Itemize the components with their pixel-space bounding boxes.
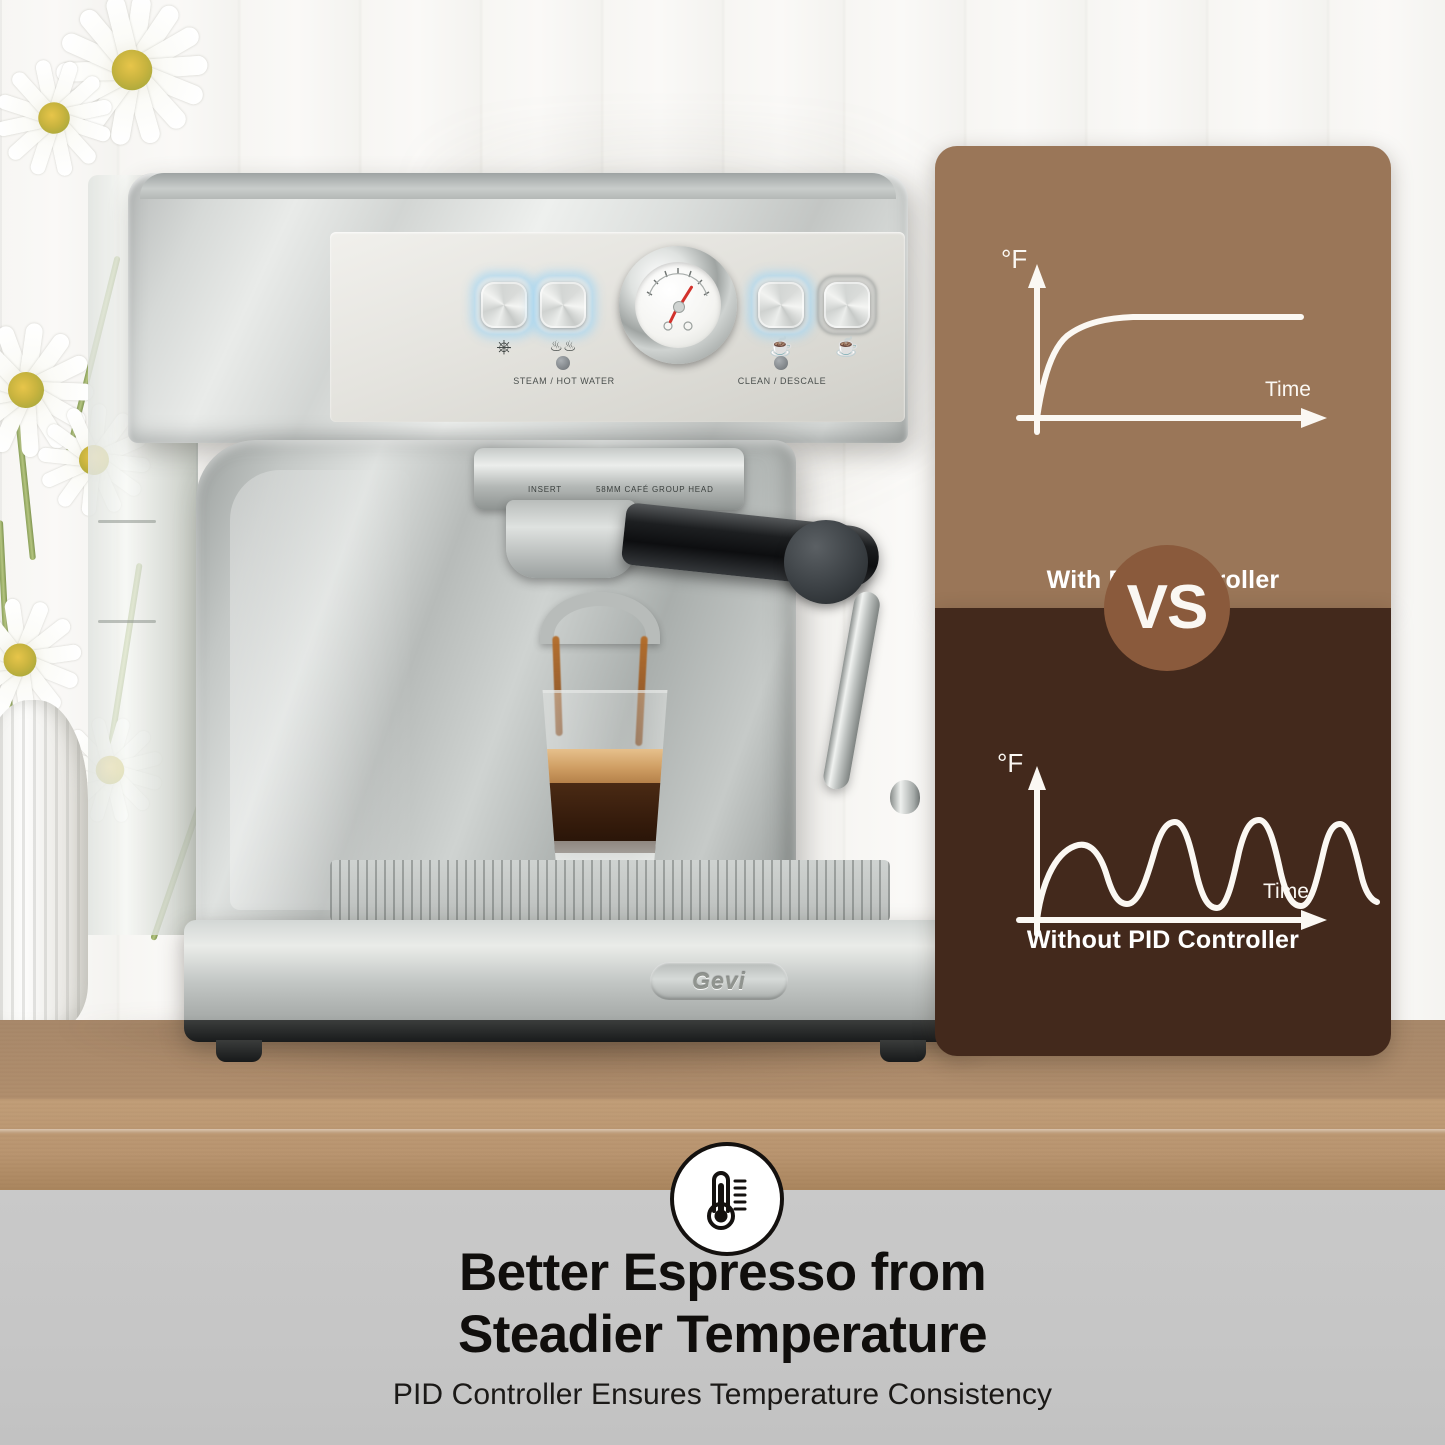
banner-subhead: PID Controller Ensures Temperature Consi… bbox=[0, 1378, 1445, 1412]
without-pid-curve bbox=[1037, 820, 1377, 920]
steam-knob[interactable] bbox=[784, 520, 868, 604]
brand-name: Gevi bbox=[692, 968, 746, 995]
headline-line-2: Steadier Temperature bbox=[0, 1304, 1445, 1366]
power-icon: ⎈ bbox=[481, 338, 527, 357]
single-shot-button[interactable] bbox=[758, 282, 804, 328]
double-shot-button[interactable] bbox=[824, 282, 870, 328]
vs-label: VS bbox=[1127, 577, 1208, 639]
group-head-spec-label: 58MM CAFÉ GROUP HEAD bbox=[596, 485, 714, 494]
without-pid-chart: °F Time bbox=[935, 738, 1391, 958]
vs-badge: VS bbox=[1104, 545, 1230, 671]
steam-wand[interactable] bbox=[821, 590, 881, 791]
pressure-gauge bbox=[619, 246, 737, 364]
brand-badge: Gevi bbox=[650, 962, 788, 1000]
espresso-glass bbox=[534, 690, 676, 874]
clean-descale-label: CLEAN / DESCALE bbox=[694, 376, 870, 386]
control-panel-face bbox=[330, 232, 905, 422]
machine-foot bbox=[880, 1040, 926, 1062]
steam-status-led bbox=[556, 356, 570, 370]
gauge-hub bbox=[673, 301, 685, 313]
reservoir-level-mark bbox=[98, 620, 156, 623]
gauge-face bbox=[635, 262, 721, 348]
cup-warming-tray bbox=[140, 173, 896, 199]
single-cup-icon: ☕ bbox=[758, 338, 804, 357]
steam-hot-water-icon: ♨♨ bbox=[540, 337, 586, 356]
power-button[interactable] bbox=[481, 282, 527, 328]
steam-hot-water-button[interactable] bbox=[540, 282, 586, 328]
x-axis-label-top: Time bbox=[1265, 378, 1311, 401]
double-cup-icon: ☕ bbox=[824, 338, 870, 357]
product-feature-image: ⎈ ♨♨ STEAM / HOT WATER bbox=[0, 0, 1445, 1445]
thermometer-badge bbox=[670, 1142, 784, 1256]
y-axis-label-bottom: °F bbox=[997, 748, 1023, 778]
drip-tray-grate bbox=[330, 860, 890, 922]
body-sheen bbox=[230, 470, 410, 910]
espresso-machine: ⎈ ♨♨ STEAM / HOT WATER bbox=[0, 0, 1000, 1120]
thermometer-icon bbox=[698, 1167, 756, 1231]
y-axis-label-top: °F bbox=[1001, 244, 1027, 274]
clean-status-led bbox=[774, 356, 788, 370]
portafilter[interactable] bbox=[506, 500, 636, 578]
without-pid-caption: Without PID Controller bbox=[935, 926, 1391, 955]
with-pid-panel: °F Time With PID Controller bbox=[935, 146, 1391, 608]
steam-hot-water-label: STEAM / HOT WATER bbox=[476, 376, 652, 386]
base-trim bbox=[184, 1020, 974, 1042]
with-pid-curve bbox=[1037, 317, 1301, 418]
with-pid-chart: °F Time bbox=[935, 146, 1391, 536]
reservoir-level-mark bbox=[98, 520, 156, 523]
insert-label: INSERT bbox=[528, 485, 562, 494]
machine-foot bbox=[216, 1040, 262, 1062]
counter-edge-highlight bbox=[0, 1129, 1445, 1134]
banner-headline: Better Espresso from Steadier Temperatur… bbox=[0, 1242, 1445, 1366]
without-pid-panel: °F Time Without PID Controller bbox=[935, 608, 1391, 1056]
steam-wand-tip bbox=[890, 780, 920, 814]
crema-layer bbox=[537, 749, 673, 783]
